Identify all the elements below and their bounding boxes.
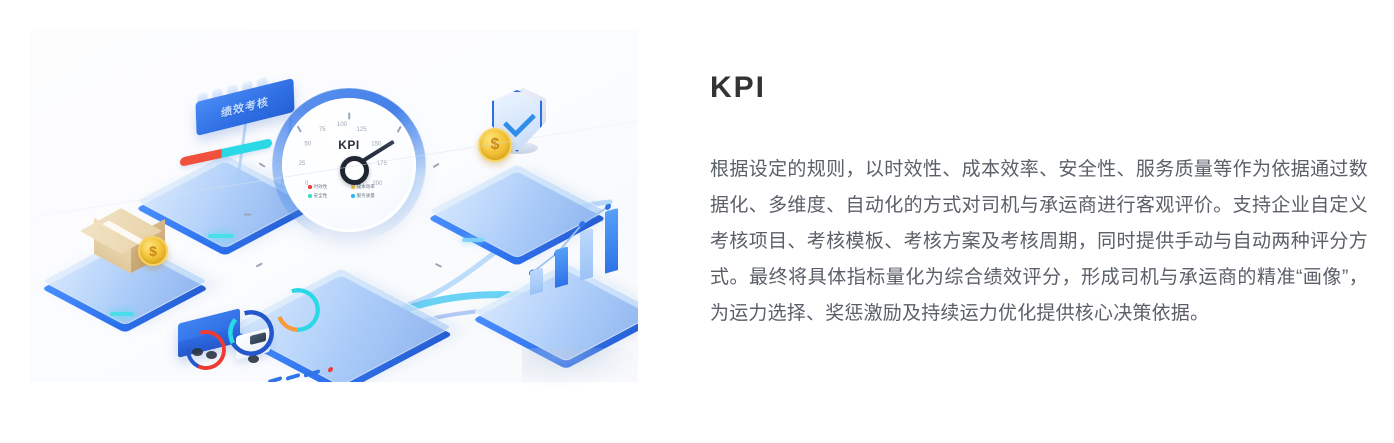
gauge-tick-label: 175 <box>375 161 389 167</box>
gauge-tick <box>348 113 350 120</box>
gauge-center-label: KPI <box>282 138 416 152</box>
gauge-legend-item: 服务质量 <box>351 193 387 199</box>
legend-color-dot <box>308 185 312 189</box>
page-title: KPI <box>710 70 1370 106</box>
gauge-tick <box>435 263 442 268</box>
gauge-legend-item: 时效性 <box>308 184 344 190</box>
legend-color-dot <box>308 194 312 198</box>
gauge-legend: 时效性成本效率安全性服务质量 <box>308 184 392 199</box>
gauge-tick-label: 100 <box>335 122 349 128</box>
feature-text-block: KPI 根据设定的规则，以时效性、成本效率、安全性、服务质量等作为依据通过数据化… <box>710 70 1370 332</box>
gauge-tick-label: 25 <box>295 161 309 167</box>
gauge-tick <box>397 126 402 133</box>
kpi-feature-section: 绩效考核 $ <box>0 0 1394 443</box>
donut-core-dot <box>202 349 206 353</box>
platform-glow <box>208 234 234 238</box>
bar <box>580 228 593 281</box>
donut-core <box>282 294 313 325</box>
platform-glow <box>462 238 484 242</box>
mini-bar <box>304 369 320 378</box>
bar <box>605 208 618 274</box>
check-icon <box>503 104 536 137</box>
coin-icon: $ <box>478 128 512 162</box>
kpi-illustration: 绩效考核 $ <box>30 30 638 382</box>
donut-core <box>192 336 220 364</box>
legend-label: 安全性 <box>314 193 328 199</box>
legend-color-dot <box>351 185 355 189</box>
legend-color-dot <box>351 194 355 198</box>
mini-bar <box>286 373 300 381</box>
illustration-canvas: 绩效考核 $ <box>30 30 638 382</box>
gauge-tick <box>433 163 440 168</box>
donut-core-bar <box>299 305 303 312</box>
mini-bar <box>268 376 282 382</box>
donut-core-dot <box>206 347 210 351</box>
bar <box>555 246 568 288</box>
gauge-hub <box>340 156 369 185</box>
shield-front-plate <box>492 90 542 152</box>
legend-label: 服务质量 <box>357 193 375 199</box>
gauge-legend-item: 成本效率 <box>351 184 387 190</box>
gauge-tick <box>244 214 251 216</box>
platform-glow <box>110 312 134 316</box>
isometric-scene: 绩效考核 $ <box>30 30 638 382</box>
gauge-tick <box>297 126 302 133</box>
legend-label: 时效性 <box>314 184 328 190</box>
kpi-gauge: 0255075100125150175200 KPI 时效性成本效率安全性服务质… <box>282 98 416 232</box>
legend-label: 成本效率 <box>357 184 375 190</box>
coin-symbol: $ <box>149 243 157 259</box>
donut-core <box>235 317 267 349</box>
signboard-label: 绩效考核 <box>221 93 270 121</box>
feature-description: 根据设定的规则，以时效性、成本效率、安全性、服务质量等作为依据通过数据化、多维度… <box>710 152 1368 332</box>
coin-symbol: $ <box>491 136 500 154</box>
bar <box>530 267 543 295</box>
gauge-tick-label: 125 <box>355 127 369 133</box>
coin-icon: $ <box>138 236 168 266</box>
gauge-tick-label: 75 <box>315 127 329 133</box>
gauge-legend-item: 安全性 <box>308 193 344 199</box>
shield-check-icon <box>492 88 546 152</box>
mini-dot <box>328 366 333 372</box>
